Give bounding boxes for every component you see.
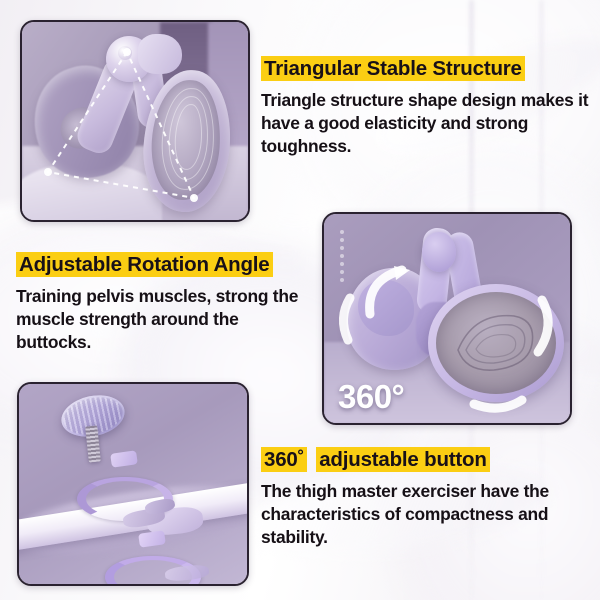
retaining-ring-upper-tab bbox=[110, 450, 138, 467]
feature-headline-rotation: Adjustable Rotation Angle bbox=[16, 252, 273, 277]
feature-text-rotation-angle: Adjustable Rotation Angle Training pelvi… bbox=[16, 252, 316, 354]
panel-artwork-triangular bbox=[22, 22, 248, 220]
panel-artwork-knob bbox=[19, 384, 247, 584]
panel-artwork-rotation: 360° bbox=[324, 214, 570, 423]
feature-text-adjustable-button: 360˚adjustable button The thigh master e… bbox=[261, 447, 591, 549]
feature-text-triangular-structure: Triangular Stable Structure Triangle str… bbox=[261, 56, 589, 158]
headline-wrap-rotation: Adjustable Rotation Angle bbox=[16, 252, 316, 278]
feature-headline-triangular: Triangular Stable Structure bbox=[261, 56, 525, 81]
feature-body-rotation: Training pelvis muscles, strong the musc… bbox=[16, 285, 316, 353]
product-feature-infographic: 360° Triangular Stab bbox=[0, 0, 600, 600]
feature-image-rotation-angle: 360° bbox=[322, 212, 572, 425]
retaining-ring-lower-tab bbox=[138, 530, 166, 547]
feature-body-triangular: Triangle structure shape design makes it… bbox=[261, 89, 589, 157]
feature-headline-button: adjustable button bbox=[316, 447, 489, 472]
feature-headline-degrees: 360˚ bbox=[261, 447, 307, 472]
headline-wrap-button: 360˚adjustable button bbox=[261, 447, 591, 473]
rotation-degree-badge: 360° bbox=[338, 380, 404, 413]
dashed-triangle-overlay bbox=[22, 22, 248, 220]
headline-wrap-triangular: Triangular Stable Structure bbox=[261, 56, 589, 82]
feature-image-adjustable-knob bbox=[17, 382, 249, 586]
feature-image-triangular-structure bbox=[20, 20, 250, 222]
feature-body-button: The thigh master exerciser have the char… bbox=[261, 480, 591, 548]
